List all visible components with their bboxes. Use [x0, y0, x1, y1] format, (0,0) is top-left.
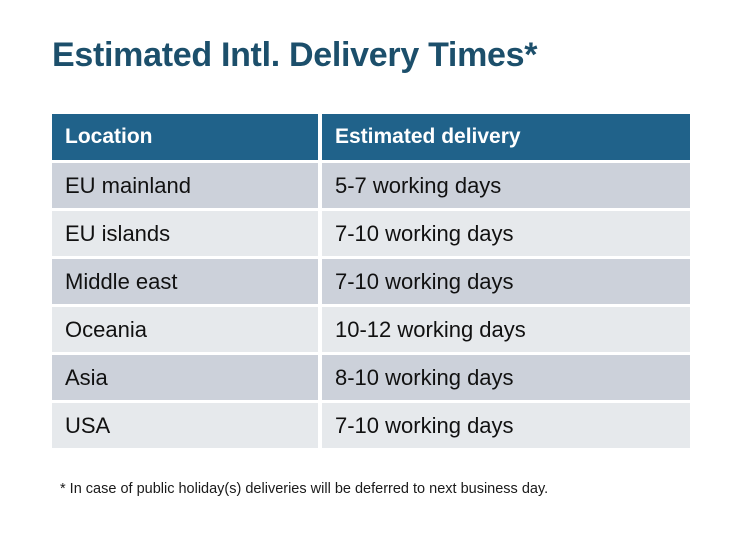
cell-estimated-delivery: 7-10 working days	[322, 211, 690, 256]
cell-location: USA	[52, 403, 318, 448]
delivery-times-table: Location Estimated delivery EU mainland …	[52, 114, 690, 448]
table-row: EU mainland 5-7 working days	[52, 163, 690, 208]
column-header-estimated-delivery: Estimated delivery	[322, 114, 690, 160]
table-row: Middle east 7-10 working days	[52, 259, 690, 304]
cell-estimated-delivery: 10-12 working days	[322, 307, 690, 352]
cell-estimated-delivery: 5-7 working days	[322, 163, 690, 208]
page-title: Estimated Intl. Delivery Times*	[52, 36, 537, 75]
cell-estimated-delivery: 7-10 working days	[322, 259, 690, 304]
cell-estimated-delivery: 7-10 working days	[322, 403, 690, 448]
table-row: Oceania 10-12 working days	[52, 307, 690, 352]
cell-estimated-delivery: 8-10 working days	[322, 355, 690, 400]
cell-location: Oceania	[52, 307, 318, 352]
cell-location: EU mainland	[52, 163, 318, 208]
table-row: EU islands 7-10 working days	[52, 211, 690, 256]
table-row: Asia 8-10 working days	[52, 355, 690, 400]
cell-location: EU islands	[52, 211, 318, 256]
cell-location: Middle east	[52, 259, 318, 304]
column-header-location: Location	[52, 114, 318, 160]
cell-location: Asia	[52, 355, 318, 400]
table-row: USA 7-10 working days	[52, 403, 690, 448]
footnote-text: * In case of public holiday(s) deliverie…	[60, 481, 548, 497]
table-header-row: Location Estimated delivery	[52, 114, 690, 160]
delivery-times-page: Estimated Intl. Delivery Times* Location…	[0, 0, 745, 536]
